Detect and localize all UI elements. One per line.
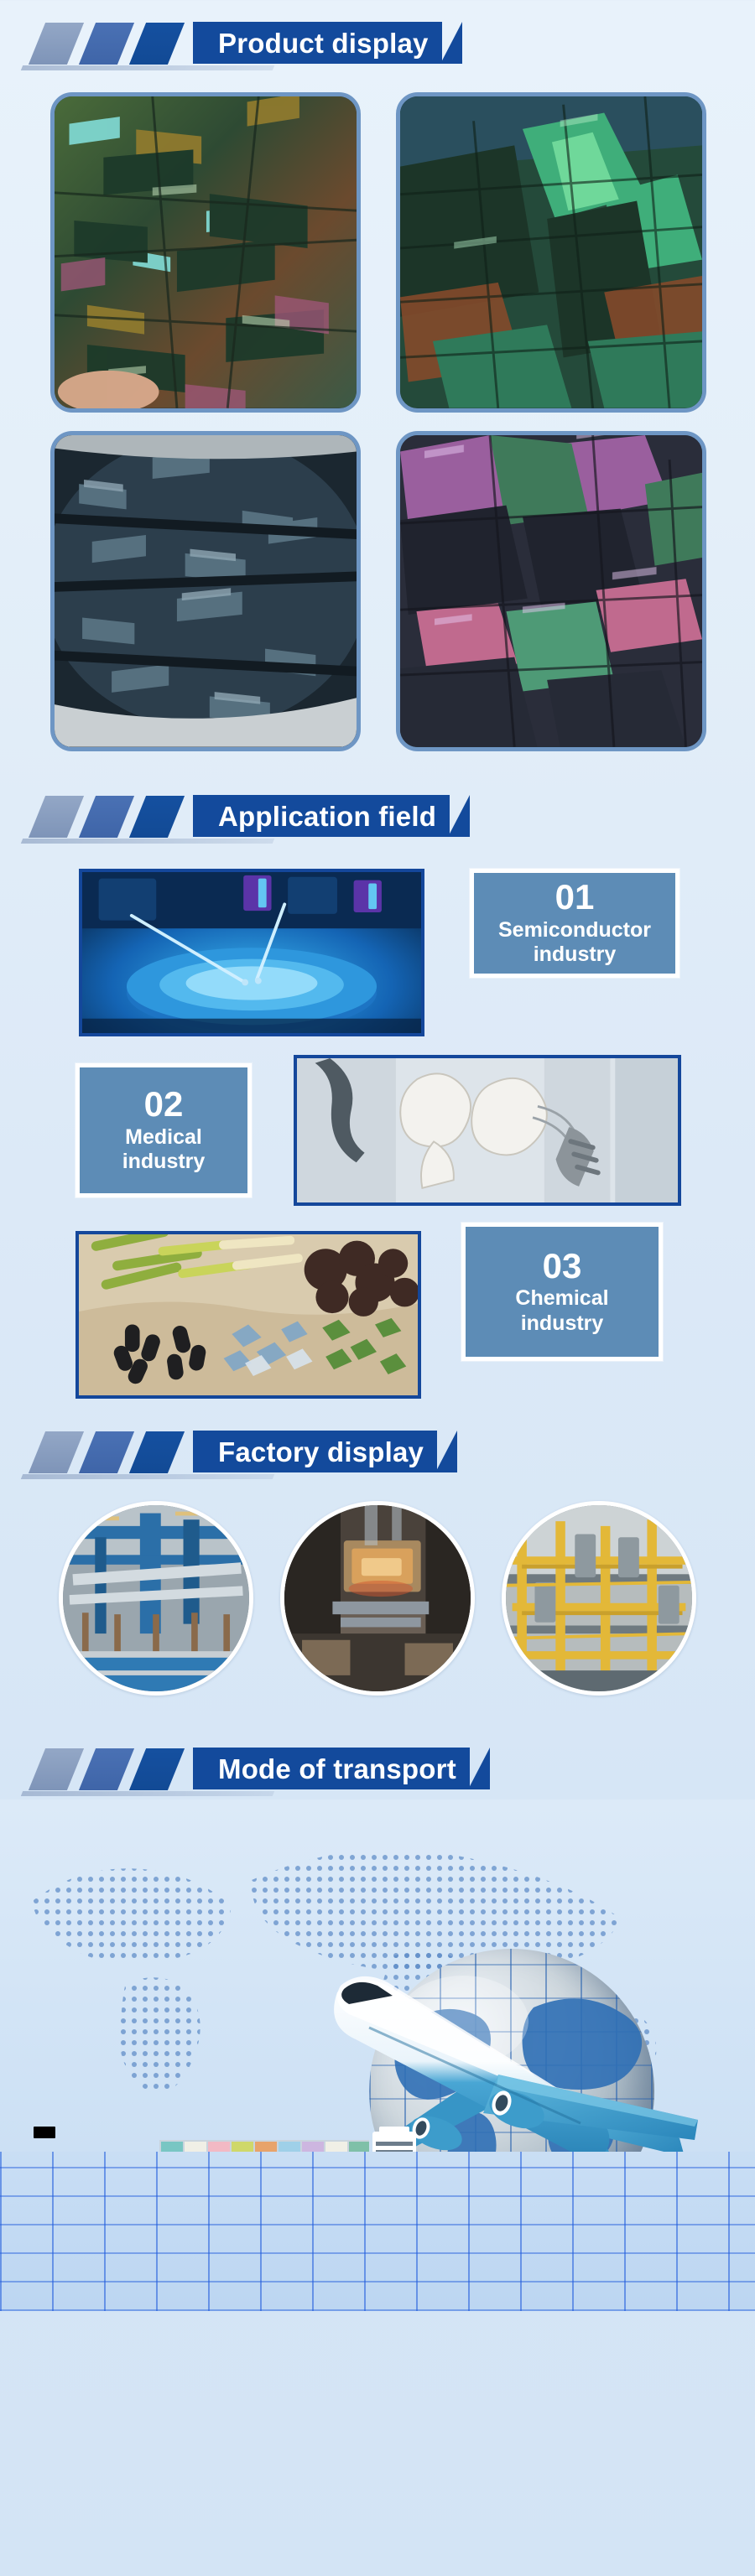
chemical-granules-image <box>79 1234 418 1395</box>
factory-plant-structure-image <box>506 1505 692 1691</box>
stripe-dark <box>129 23 185 65</box>
banner-plate: Product display <box>193 22 442 64</box>
section-title-factory: Factory display <box>218 1438 424 1466</box>
banner-underline <box>21 1791 274 1796</box>
stripe-mid <box>79 796 134 838</box>
product-image-card[interactable] <box>50 431 361 751</box>
product-image-card[interactable] <box>396 431 706 751</box>
application-card-03[interactable]: 03 Chemical industry <box>461 1223 663 1361</box>
section-banner-application: Application field <box>0 795 755 847</box>
product-image-grid <box>0 74 755 751</box>
application-card-02[interactable]: 02 Medical industry <box>75 1063 252 1197</box>
medical-implant-image <box>297 1058 678 1202</box>
banner-stripes <box>37 1748 188 1791</box>
application-number-02: 02 <box>144 1086 184 1123</box>
section-title-product: Product display <box>218 29 429 57</box>
semiconductor-wafer-image <box>82 872 421 1033</box>
stripe-mid <box>79 1748 134 1790</box>
factory-extrusion-line-image <box>63 1505 249 1691</box>
section-banner-factory: Factory display <box>0 1431 755 1483</box>
application-photo-medical[interactable] <box>294 1055 681 1206</box>
stripe-dark <box>129 1748 185 1790</box>
banner-underline <box>21 65 274 70</box>
banner-underline <box>21 839 274 844</box>
stripe-light <box>29 23 84 65</box>
application-photo-chemical[interactable] <box>75 1231 421 1399</box>
banner-plate: Mode of transport <box>193 1748 470 1789</box>
application-label-02-line1: Medical <box>120 1125 207 1150</box>
banner-plate: Application field <box>193 795 450 837</box>
product-image-card[interactable] <box>396 92 706 413</box>
application-card-01[interactable]: 01 Semiconductor industry <box>470 869 679 978</box>
section-title-transport: Mode of transport <box>218 1755 456 1783</box>
application-label-03-line2: industry <box>516 1311 609 1337</box>
stripe-mid <box>79 23 134 65</box>
bismuth-crystal-photo-2 <box>400 96 702 408</box>
bismuth-metal-photo-3 <box>55 435 357 747</box>
stripe-mid <box>79 1431 134 1473</box>
banner-plate: Factory display <box>193 1431 437 1472</box>
factory-image-3[interactable] <box>502 1501 696 1696</box>
transport-scene <box>0 1800 755 2311</box>
stripe-dark <box>129 796 185 838</box>
bismuth-crystal-photo-1 <box>55 96 357 408</box>
section-title-application: Application field <box>218 802 436 830</box>
application-number-01: 01 <box>555 879 595 916</box>
product-image-card[interactable] <box>50 92 361 413</box>
application-field-list: 01 Semiconductor industry 02 Medical ind… <box>0 862 755 1449</box>
product-detail-page: Product display <box>0 22 755 2576</box>
stripe-light <box>29 1431 84 1473</box>
banner-underline <box>21 1474 274 1479</box>
banner-stripes <box>37 1431 188 1474</box>
banner-stripes <box>37 795 188 839</box>
application-label-01-line2: industry <box>528 943 622 968</box>
stripe-dark <box>129 1431 185 1473</box>
factory-image-2[interactable] <box>280 1501 475 1696</box>
blue-grid-floor <box>0 2152 755 2311</box>
factory-furnace-image <box>284 1505 471 1691</box>
factory-image-1[interactable] <box>59 1501 253 1696</box>
application-label-01-line1: Semiconductor <box>493 918 656 943</box>
section-banner-transport: Mode of transport <box>0 1748 755 1800</box>
section-banner-product: Product display <box>0 22 755 74</box>
application-number-03: 03 <box>543 1248 582 1285</box>
application-label-03-line1: Chemical <box>510 1286 613 1311</box>
application-photo-semiconductor[interactable] <box>79 869 424 1036</box>
banner-stripes <box>37 22 188 65</box>
stripe-light <box>29 1748 84 1790</box>
stripe-light <box>29 796 84 838</box>
bismuth-crystal-photo-4 <box>400 435 702 747</box>
application-label-02-line2: industry <box>117 1150 211 1175</box>
factory-image-row <box>0 1483 755 1696</box>
